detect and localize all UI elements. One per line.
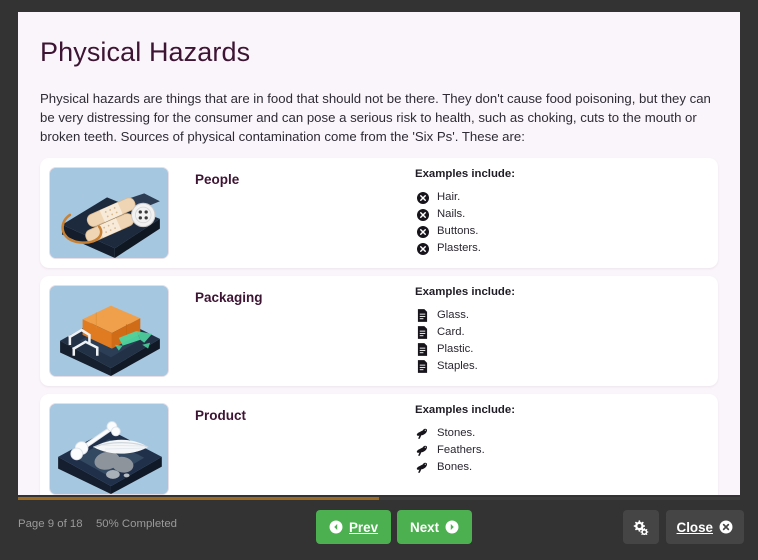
list-item-label: Glass. bbox=[437, 307, 469, 324]
navigation-buttons: Prev Next bbox=[316, 510, 472, 544]
prev-button-label: Prev bbox=[349, 520, 378, 535]
examples-block: Examples include: Hair. Nails. bbox=[415, 167, 708, 257]
list-item: Plastic. bbox=[415, 341, 708, 358]
arrow-circle-left-icon bbox=[329, 520, 343, 534]
hazard-card-packaging[interactable]: Packaging Examples include: Glass. Card. bbox=[40, 276, 718, 386]
page-counter: Page 9 of 18 bbox=[18, 518, 83, 530]
utility-buttons: Close bbox=[623, 510, 744, 544]
list-item: Buttons. bbox=[415, 223, 708, 240]
list-item: Bones. bbox=[415, 459, 708, 476]
list-item-label: Feathers. bbox=[437, 442, 485, 459]
page-title: Physical Hazards bbox=[40, 36, 718, 68]
list-item: Plasters. bbox=[415, 240, 708, 257]
examples-block: Examples include: Glass. Card. bbox=[415, 285, 708, 375]
circle-x-icon bbox=[719, 520, 733, 534]
examples-list: Hair. Nails. Buttons. bbox=[415, 189, 708, 257]
completion-percent: 50% Completed bbox=[96, 518, 177, 530]
list-item-label: Buttons. bbox=[437, 223, 478, 240]
progress-bar-track[interactable] bbox=[18, 497, 740, 500]
bird-icon bbox=[415, 443, 430, 458]
hazard-card-title: People bbox=[169, 167, 415, 187]
list-item: Staples. bbox=[415, 358, 708, 375]
list-item-label: Bones. bbox=[437, 459, 472, 476]
footer-toolbar: Page 9 of 18 50% Completed Prev Next bbox=[0, 502, 758, 560]
bone-feather-stones-illustration bbox=[49, 403, 169, 495]
examples-list: Stones. Feathers. Bones. bbox=[415, 425, 708, 476]
hazard-card-product[interactable]: Product Examples include: Stones. Feathe… bbox=[40, 394, 718, 495]
bird-icon bbox=[415, 460, 430, 475]
file-document-icon bbox=[415, 359, 430, 374]
hazard-card-people[interactable]: People Examples include: Hair. Nails. bbox=[40, 158, 718, 268]
list-item-label: Plastic. bbox=[437, 341, 473, 358]
list-item-label: Nails. bbox=[437, 206, 465, 223]
settings-button[interactable] bbox=[623, 510, 659, 544]
examples-heading: Examples include: bbox=[415, 168, 708, 180]
list-item: Glass. bbox=[415, 307, 708, 324]
prev-button[interactable]: Prev bbox=[316, 510, 391, 544]
hazard-card-title: Product bbox=[169, 403, 415, 423]
intro-paragraph: Physical hazards are things that are in … bbox=[40, 89, 718, 146]
list-item: Hair. bbox=[415, 189, 708, 206]
plasters-hair-button-illustration bbox=[49, 167, 169, 259]
file-document-icon bbox=[415, 308, 430, 323]
circle-x-icon bbox=[415, 190, 430, 205]
arrow-circle-right-icon bbox=[445, 520, 459, 534]
next-button-label: Next bbox=[410, 520, 439, 535]
slide-content-area: Physical Hazards Physical hazards are th… bbox=[18, 12, 740, 495]
bird-icon bbox=[415, 426, 430, 441]
examples-list: Glass. Card. Plastic. bbox=[415, 307, 708, 375]
file-document-icon bbox=[415, 342, 430, 357]
close-button-label: Close bbox=[677, 520, 713, 535]
list-item: Card. bbox=[415, 324, 708, 341]
examples-heading: Examples include: bbox=[415, 404, 708, 416]
progress-bar-fill bbox=[18, 497, 379, 500]
list-item-label: Card. bbox=[437, 324, 465, 341]
list-item-label: Stones. bbox=[437, 425, 475, 442]
list-item: Stones. bbox=[415, 425, 708, 442]
list-item-label: Staples. bbox=[437, 358, 478, 375]
file-document-icon bbox=[415, 325, 430, 340]
examples-block: Examples include: Stones. Feathers. bbox=[415, 403, 708, 476]
list-item-label: Plasters. bbox=[437, 240, 481, 257]
elearning-slide-window: Physical Hazards Physical hazards are th… bbox=[0, 0, 758, 560]
circle-x-icon bbox=[415, 241, 430, 256]
examples-heading: Examples include: bbox=[415, 286, 708, 298]
circle-x-icon bbox=[415, 224, 430, 239]
progress-status: Page 9 of 18 50% Completed bbox=[18, 518, 177, 530]
hazard-card-title: Packaging bbox=[169, 285, 415, 305]
circle-x-icon bbox=[415, 207, 430, 222]
cogs-icon bbox=[632, 520, 649, 535]
cardboard-box-glass-staples-illustration bbox=[49, 285, 169, 377]
list-item: Nails. bbox=[415, 206, 708, 223]
hazard-card-list: People Examples include: Hair. Nails. bbox=[40, 158, 718, 495]
list-item-label: Hair. bbox=[437, 189, 460, 206]
list-item: Feathers. bbox=[415, 442, 708, 459]
next-button[interactable]: Next bbox=[397, 510, 472, 544]
close-button[interactable]: Close bbox=[666, 510, 744, 544]
